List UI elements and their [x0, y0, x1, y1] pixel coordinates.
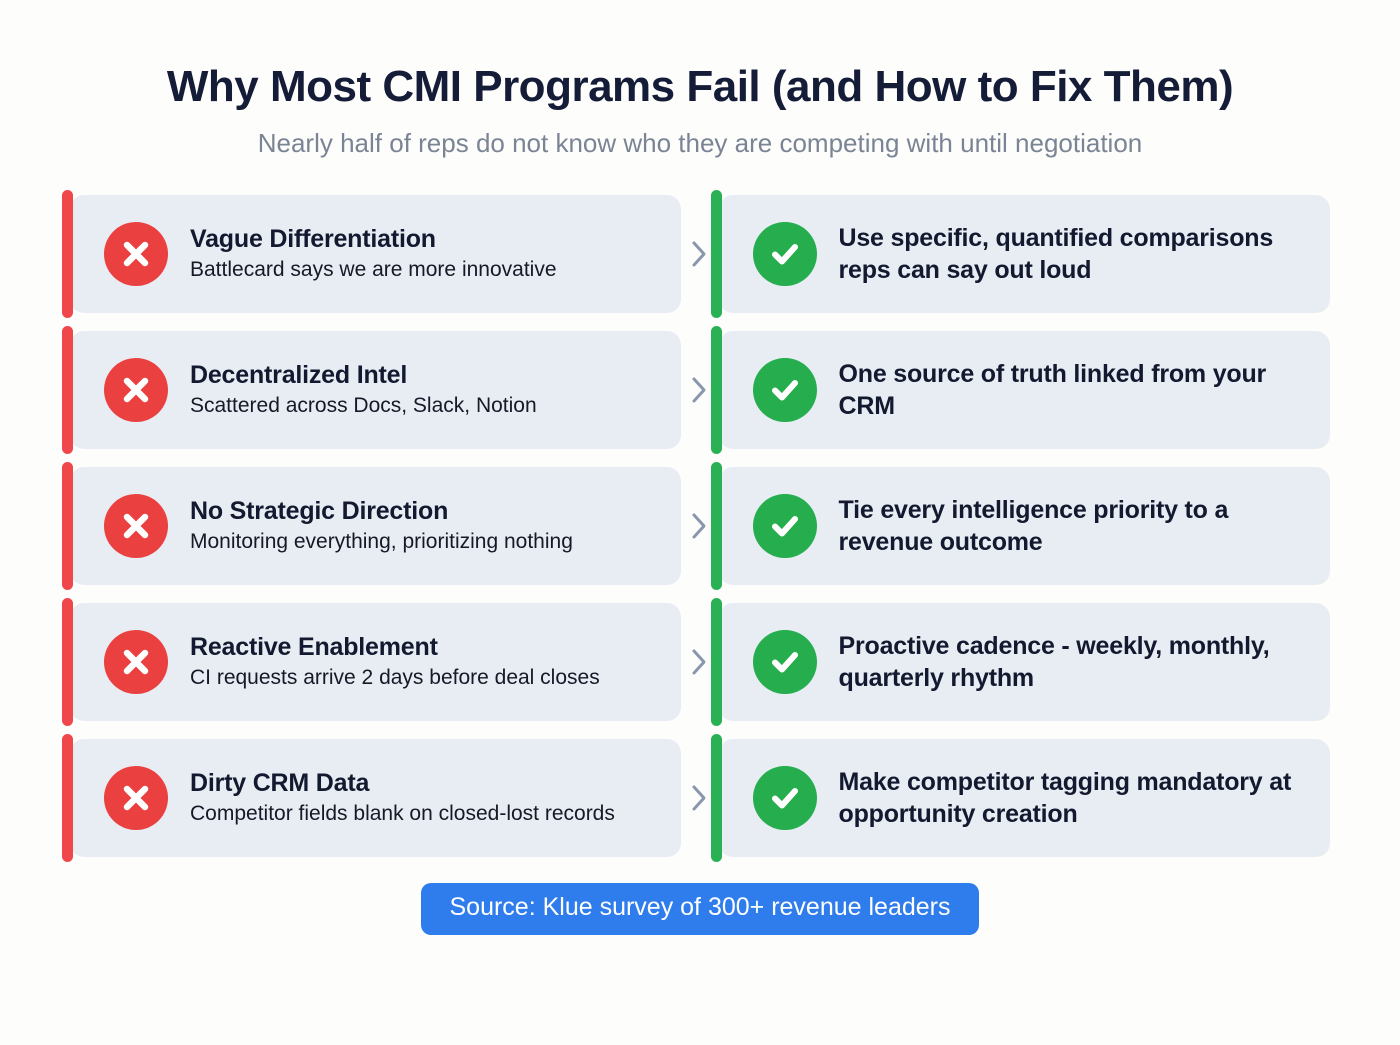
fix-card[interactable]: Tie every intelligence priority to a rev…	[719, 467, 1331, 585]
problem-title: Decentralized Intel	[190, 361, 659, 391]
problem-title: Reactive Enablement	[190, 633, 659, 663]
check-circle-icon	[753, 766, 817, 830]
fix-accent-bar	[711, 598, 722, 726]
x-circle-icon	[104, 630, 168, 694]
check-circle-icon	[753, 222, 817, 286]
comparison-rows: Vague Differentiation Battlecard says we…	[0, 195, 1400, 857]
comparison-row: Reactive Enablement CI requests arrive 2…	[70, 603, 1330, 721]
problem-card[interactable]: Decentralized Intel Scattered across Doc…	[70, 331, 681, 449]
header: Why Most CMI Programs Fail (and How to F…	[0, 0, 1400, 159]
comparison-row: No Strategic Direction Monitoring everyt…	[70, 467, 1330, 585]
problem-accent-bar	[62, 734, 73, 862]
fix-label: One source of truth linked from your CRM	[839, 358, 1309, 423]
fix-text: Use specific, quantified comparisons rep…	[839, 222, 1309, 287]
fix-text: Proactive cadence - weekly, monthly, qua…	[839, 630, 1309, 695]
x-circle-icon	[104, 222, 168, 286]
fix-accent-bar	[711, 462, 722, 590]
fix-label: Tie every intelligence priority to a rev…	[839, 494, 1309, 559]
comparison-row: Decentralized Intel Scattered across Doc…	[70, 331, 1330, 449]
problem-card[interactable]: No Strategic Direction Monitoring everyt…	[70, 467, 681, 585]
problem-title: Dirty CRM Data	[190, 769, 659, 799]
check-circle-icon	[753, 358, 817, 422]
fix-card[interactable]: One source of truth linked from your CRM	[719, 331, 1331, 449]
check-circle-icon	[753, 630, 817, 694]
problem-card[interactable]: Reactive Enablement CI requests arrive 2…	[70, 603, 681, 721]
comparison-row: Dirty CRM Data Competitor fields blank o…	[70, 739, 1330, 857]
fix-accent-bar	[711, 190, 722, 318]
problem-accent-bar	[62, 598, 73, 726]
page-title: Why Most CMI Programs Fail (and How to F…	[0, 62, 1400, 111]
problem-subtitle: CI requests arrive 2 days before deal cl…	[190, 665, 659, 692]
problem-text: Dirty CRM Data Competitor fields blank o…	[190, 769, 659, 828]
fix-accent-bar	[711, 734, 722, 862]
comparison-row: Vague Differentiation Battlecard says we…	[70, 195, 1330, 313]
fix-text: One source of truth linked from your CRM	[839, 358, 1309, 423]
problem-accent-bar	[62, 462, 73, 590]
problem-text: Reactive Enablement CI requests arrive 2…	[190, 633, 659, 692]
fix-label: Make competitor tagging mandatory at opp…	[839, 766, 1309, 831]
problem-accent-bar	[62, 326, 73, 454]
problem-title: Vague Differentiation	[190, 225, 659, 255]
x-circle-icon	[104, 766, 168, 830]
problem-subtitle: Competitor fields blank on closed-lost r…	[190, 801, 659, 828]
fix-label: Use specific, quantified comparisons rep…	[839, 222, 1309, 287]
problem-text: No Strategic Direction Monitoring everyt…	[190, 497, 659, 556]
infographic-canvas: Why Most CMI Programs Fail (and How to F…	[0, 0, 1400, 1045]
problem-subtitle: Battlecard says we are more innovative	[190, 257, 659, 284]
fix-text: Make competitor tagging mandatory at opp…	[839, 766, 1309, 831]
problem-title: No Strategic Direction	[190, 497, 659, 527]
source-badge: Source: Klue survey of 300+ revenue lead…	[421, 883, 978, 935]
problem-card[interactable]: Vague Differentiation Battlecard says we…	[70, 195, 681, 313]
fix-card[interactable]: Use specific, quantified comparisons rep…	[719, 195, 1331, 313]
check-circle-icon	[753, 494, 817, 558]
problem-accent-bar	[62, 190, 73, 318]
fix-accent-bar	[711, 326, 722, 454]
page-subtitle: Nearly half of reps do not know who they…	[0, 128, 1400, 159]
problem-text: Decentralized Intel Scattered across Doc…	[190, 361, 659, 420]
problem-subtitle: Monitoring everything, prioritizing noth…	[190, 529, 659, 556]
problem-subtitle: Scattered across Docs, Slack, Notion	[190, 393, 659, 420]
fix-text: Tie every intelligence priority to a rev…	[839, 494, 1309, 559]
x-circle-icon	[104, 358, 168, 422]
fix-label: Proactive cadence - weekly, monthly, qua…	[839, 630, 1309, 695]
problem-text: Vague Differentiation Battlecard says we…	[190, 225, 659, 284]
problem-card[interactable]: Dirty CRM Data Competitor fields blank o…	[70, 739, 681, 857]
x-circle-icon	[104, 494, 168, 558]
fix-card[interactable]: Make competitor tagging mandatory at opp…	[719, 739, 1331, 857]
fix-card[interactable]: Proactive cadence - weekly, monthly, qua…	[719, 603, 1331, 721]
footer: Source: Klue survey of 300+ revenue lead…	[0, 883, 1400, 935]
